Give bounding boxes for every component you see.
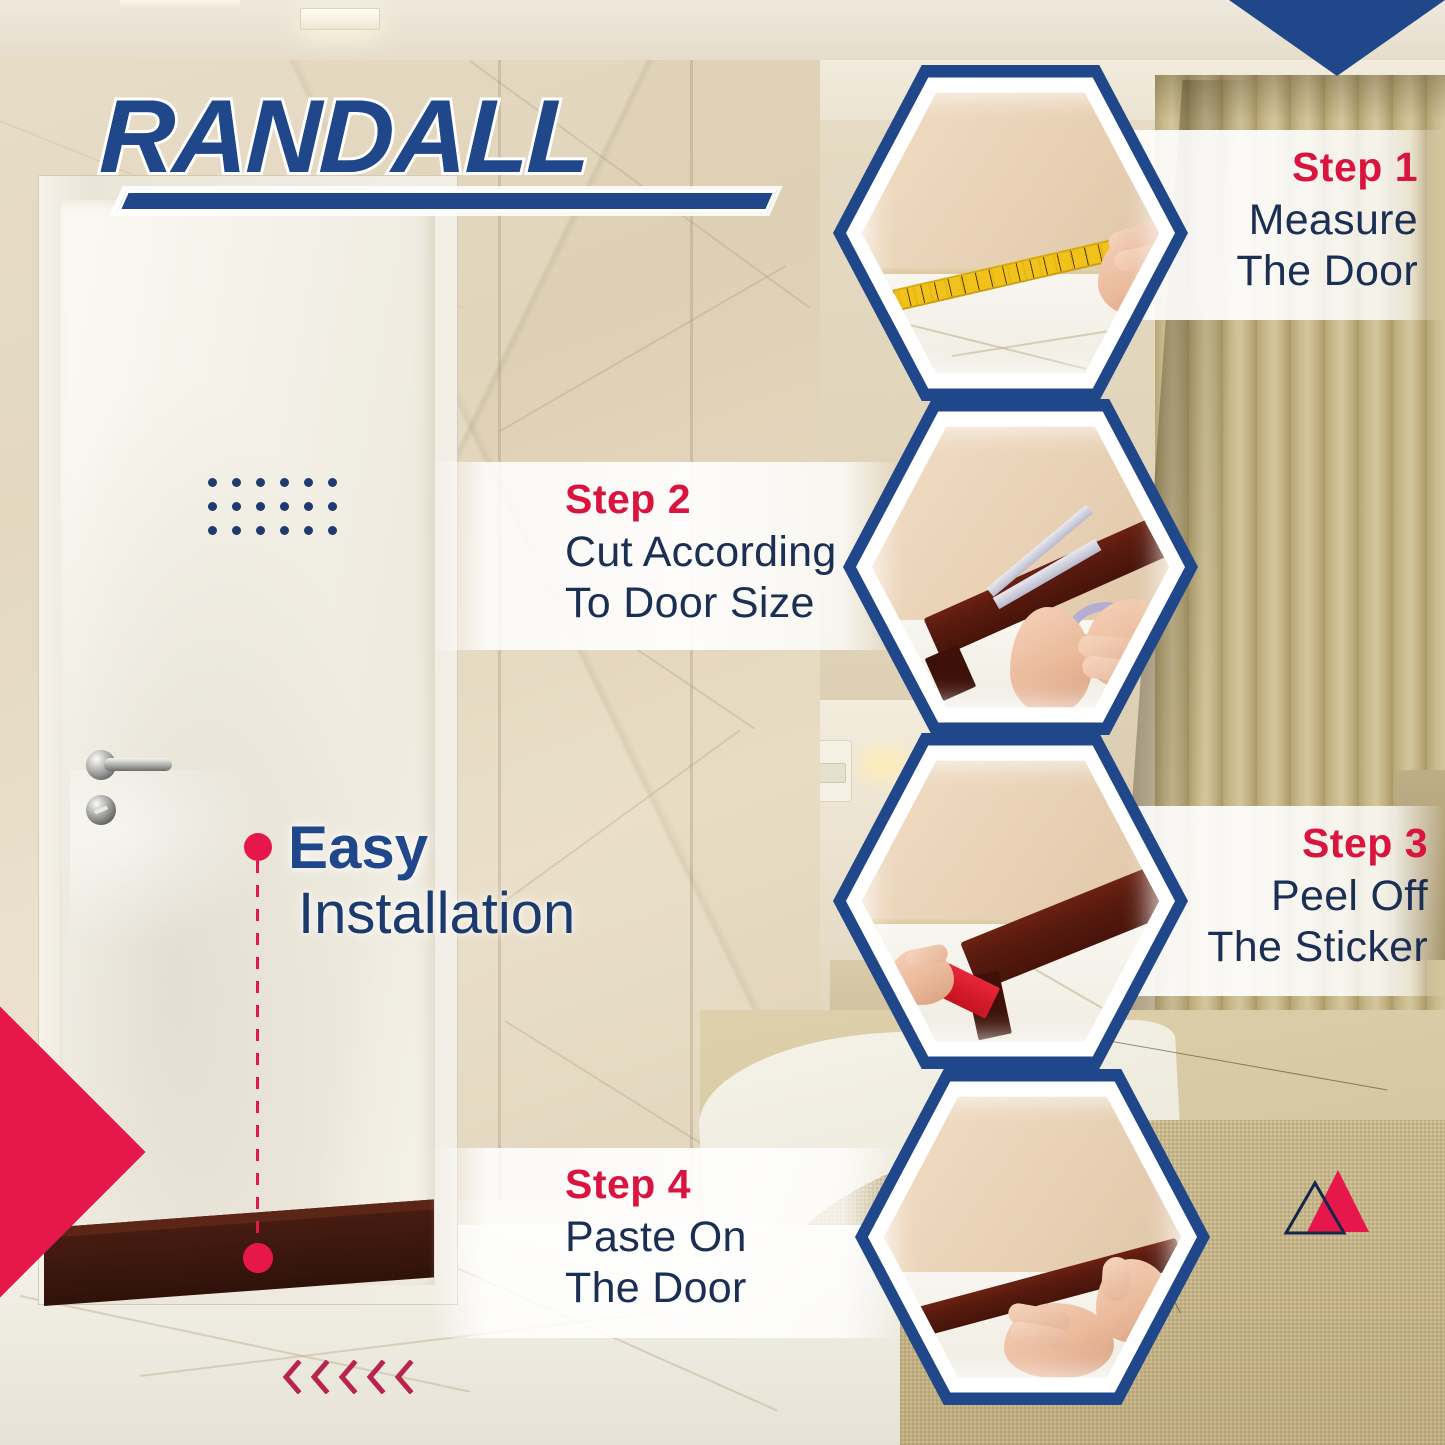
step-4-title-line2: The Door (565, 1263, 895, 1314)
chevron-left-icon (282, 1360, 302, 1394)
chevron-left-icon (366, 1360, 386, 1394)
step-2-hexagon (843, 392, 1198, 742)
step-4-kicker: Step 4 (565, 1163, 895, 1206)
brand-logo: RANDALL RANDALL (100, 78, 800, 200)
chevron-left-icon (310, 1360, 330, 1394)
headline-easy-installation: Easy Installation (288, 818, 575, 947)
pointer-dashed-line (256, 861, 259, 1251)
triangle-badge-decor (1283, 1168, 1369, 1242)
door-lock-icon (86, 795, 116, 825)
chevron-decor-row (282, 1360, 414, 1394)
step-4-text: Step 4 Paste On The Door (565, 1163, 895, 1314)
tile-vein (500, 265, 787, 432)
headline-line1: Easy (288, 818, 575, 878)
navy-down-triangle-icon (1229, 0, 1445, 76)
step-4-hexagon (855, 1062, 1210, 1412)
pointer-dot-top (244, 833, 272, 861)
step-3-hexagon (833, 726, 1188, 1076)
step-1-hexagon (833, 58, 1188, 408)
finger (1100, 1256, 1131, 1302)
decorative-dot-grid (208, 478, 352, 550)
product-infographic: RANDALL RANDALL Step 1 Measure The Door … (0, 0, 1445, 1445)
ceiling-downlight (300, 8, 380, 30)
corner-triangle-decor (1229, 0, 1445, 78)
headline-line2: Installation (298, 882, 575, 947)
door-handle-lever-icon (104, 758, 172, 771)
pointer-dot-bottom (243, 1243, 273, 1273)
chevron-left-icon (394, 1360, 414, 1394)
chevron-left-icon (338, 1360, 358, 1394)
ceiling-light-strip (120, 0, 240, 10)
brand-name: RANDALL (98, 78, 591, 197)
navy-outline-triangle-icon (1283, 1180, 1347, 1236)
step-4-title-line1: Paste On (565, 1212, 895, 1263)
